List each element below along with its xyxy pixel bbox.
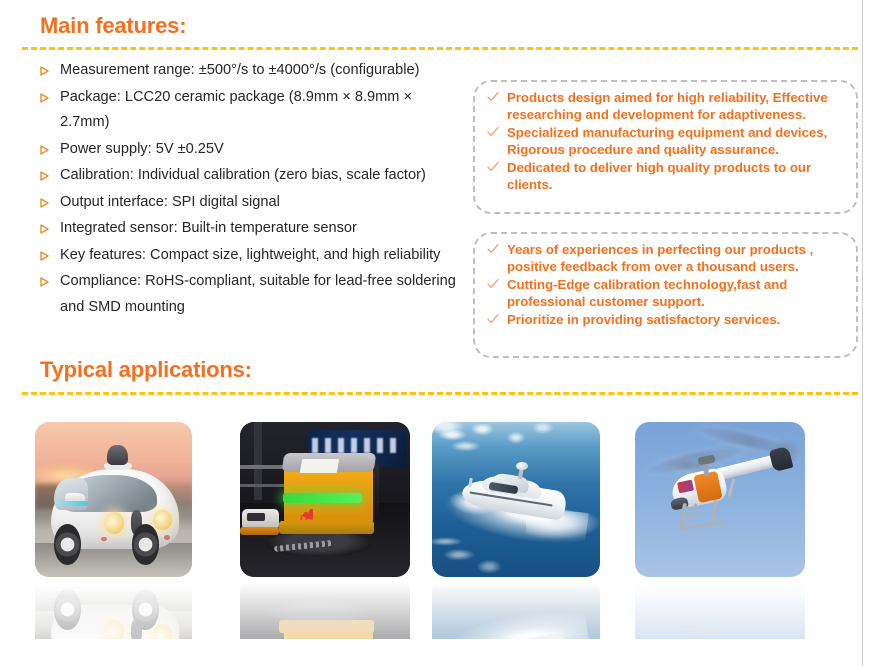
- photo-unmanned-boat: [432, 422, 600, 577]
- application-image-row: [0, 420, 870, 660]
- feature-text: Key features: Compact size, lightweight,…: [60, 247, 440, 263]
- feature-item: Output interface: SPI digital signal: [38, 190, 458, 216]
- arrow-bullet-icon: [40, 269, 54, 287]
- feature-item: Compliance: RoHS-compliant, suitable for…: [38, 269, 458, 320]
- arrow-bullet-icon: [40, 85, 54, 103]
- photo-autonomous-car: [35, 422, 192, 577]
- check-icon: [486, 90, 502, 106]
- main-features-list: Measurement range: ±500°/s to ±4000°/s (…: [38, 58, 458, 321]
- photo-reflection: [635, 577, 805, 639]
- check-icon: [486, 160, 502, 176]
- feature-text: Calibration: Individual calibration (zer…: [60, 167, 426, 183]
- feature-item: Key features: Compact size, lightweight,…: [38, 243, 458, 269]
- callout-text: Products design aimed for high reliabili…: [507, 90, 828, 122]
- callout-item: Prioritize in providing satisfactory ser…: [483, 311, 846, 328]
- application-image-unmanned-boat: [432, 422, 600, 577]
- check-icon: [486, 125, 502, 141]
- callout-text: Years of experiences in perfecting our p…: [507, 242, 813, 274]
- check-icon: [486, 312, 502, 328]
- photo-unmanned-helicopter: [635, 422, 805, 577]
- feature-item: Measurement range: ±500°/s to ±4000°/s (…: [38, 58, 458, 84]
- photo-reflection: [240, 577, 410, 639]
- callout-text: Specialized manufacturing equipment and …: [507, 125, 827, 157]
- feature-text: Output interface: SPI digital signal: [60, 194, 280, 210]
- callout-item: Dedicated to deliver high quality produc…: [483, 159, 846, 193]
- feature-text: Package: LCC20 ceramic package (8.9mm × …: [60, 89, 412, 131]
- callout-box-capabilities: Products design aimed for high reliabili…: [473, 80, 858, 214]
- typical-applications-heading: Typical applications:: [40, 357, 252, 383]
- arrow-bullet-icon: [40, 137, 54, 155]
- application-image-unmanned-helicopter: [635, 422, 805, 577]
- application-image-agv-robot: [240, 422, 410, 577]
- feature-text: Measurement range: ±500°/s to ±4000°/s (…: [60, 62, 420, 78]
- arrow-bullet-icon: [40, 163, 54, 181]
- slide-canvas: Main features: Measurement range: ±500°/…: [0, 0, 870, 666]
- callout-text: Dedicated to deliver high quality produc…: [507, 160, 811, 192]
- check-icon: [486, 242, 502, 258]
- callout-box-experience: Years of experiences in perfecting our p…: [473, 232, 858, 358]
- feature-item: Package: LCC20 ceramic package (8.9mm × …: [38, 85, 458, 136]
- main-features-heading: Main features:: [40, 13, 186, 39]
- arrow-bullet-icon: [40, 58, 54, 76]
- photo-agv-robot: [240, 422, 410, 577]
- callout-item: Years of experiences in perfecting our p…: [483, 241, 846, 275]
- feature-text: Compliance: RoHS-compliant, suitable for…: [60, 273, 456, 315]
- application-image-autonomous-car: [35, 422, 192, 577]
- check-icon: [486, 277, 502, 293]
- photo-reflection: [35, 577, 192, 639]
- main-features-divider: [22, 47, 858, 50]
- arrow-bullet-icon: [40, 190, 54, 208]
- callout-text: Cutting-Edge calibration technology,fast…: [507, 277, 787, 309]
- callout-item: Specialized manufacturing equipment and …: [483, 124, 846, 158]
- feature-item: Calibration: Individual calibration (zer…: [38, 163, 458, 189]
- callout-item: Products design aimed for high reliabili…: [483, 89, 846, 123]
- callout-text: Prioritize in providing satisfactory ser…: [507, 312, 780, 327]
- feature-item: Integrated sensor: Built-in temperature …: [38, 216, 458, 242]
- callout-item: Cutting-Edge calibration technology,fast…: [483, 276, 846, 310]
- typical-applications-divider: [22, 392, 858, 395]
- feature-text: Power supply: 5V ±0.25V: [60, 141, 224, 157]
- feature-text: Integrated sensor: Built-in temperature …: [60, 220, 357, 236]
- arrow-bullet-icon: [40, 216, 54, 234]
- photo-reflection: [432, 577, 600, 639]
- feature-item: Power supply: 5V ±0.25V: [38, 137, 458, 163]
- arrow-bullet-icon: [40, 243, 54, 261]
